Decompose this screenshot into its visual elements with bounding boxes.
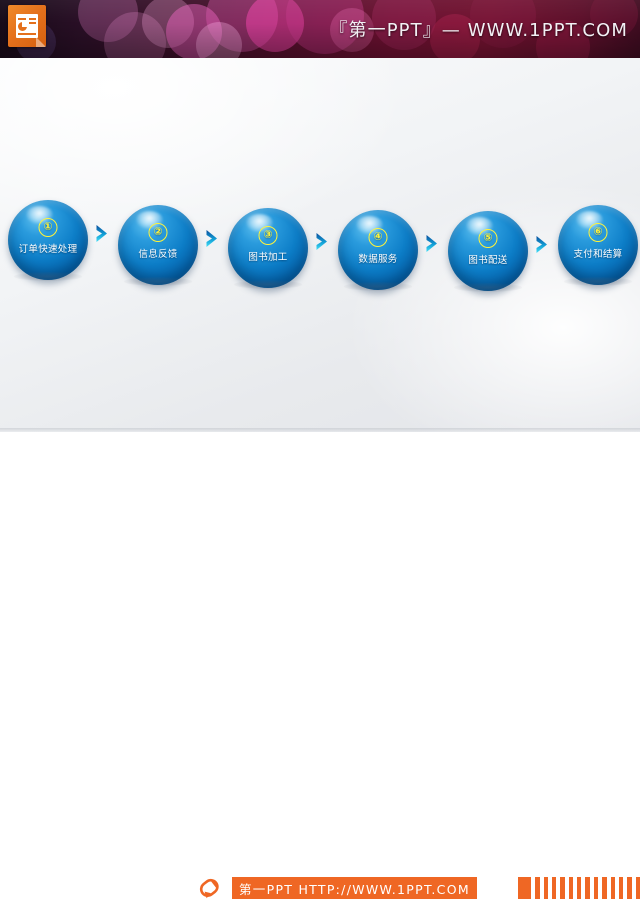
- footer-url-block[interactable]: 第一PPT HTTP://WWW.1PPT.COM: [232, 877, 477, 899]
- footer-stripe: [535, 877, 539, 899]
- footer-stripe: [560, 877, 564, 899]
- chevron-right-icon: [315, 232, 330, 251]
- footer-stripe: [602, 877, 606, 899]
- footer-url-text: 第一PPT HTTP://WWW.1PPT.COM: [239, 879, 470, 898]
- slide-body: ① 订单快速处理 ② 信息反馈: [0, 58, 640, 432]
- footer-stripe: [627, 877, 631, 899]
- node-label: 订单快速处理: [8, 241, 88, 255]
- header-banner: 『第一PPT』— WWW.1PPT.COM: [0, 0, 640, 58]
- footer-stripes: [518, 877, 640, 899]
- footer-stripe: [611, 877, 615, 899]
- node-shadow: [124, 277, 192, 286]
- footer-stripe: [569, 877, 573, 899]
- node-shadow: [14, 272, 82, 281]
- node-label: 信息反馈: [118, 246, 198, 260]
- node-shadow: [344, 282, 412, 291]
- node-sphere: [338, 210, 418, 290]
- node-sphere: [118, 205, 198, 285]
- node-label: 图书加工: [228, 249, 308, 263]
- footer-bar: 第一PPT HTTP://WWW.1PPT.COM: [0, 432, 640, 480]
- footer-stripe: [518, 877, 531, 899]
- process-node-3[interactable]: ③ 图书加工: [228, 208, 308, 288]
- chevron-right-icon: [425, 234, 440, 253]
- footer-stripe: [577, 877, 581, 899]
- chevron-right-icon: [205, 229, 220, 248]
- node-shadow: [564, 277, 632, 286]
- node-sphere: [228, 208, 308, 288]
- node-shadow: [234, 280, 302, 289]
- header-title: 『第一PPT』— WWW.1PPT.COM: [329, 16, 628, 42]
- node-label: 图书配送: [448, 252, 528, 266]
- chevron-right-icon: [535, 235, 550, 254]
- process-node-2[interactable]: ② 信息反馈: [118, 205, 198, 285]
- node-number-badge: ①: [39, 218, 58, 237]
- process-node-6[interactable]: ⑥ 支付和结算: [558, 205, 638, 285]
- process-node-5[interactable]: ⑤ 图书配送: [448, 211, 528, 291]
- chevron-right-icon: [95, 224, 110, 243]
- process-node-4[interactable]: ④ 数据服务: [338, 210, 418, 290]
- node-number-badge: ⑤: [479, 229, 498, 248]
- node-label: 支付和结算: [558, 246, 638, 260]
- process-flow-diagram: ① 订单快速处理 ② 信息反馈: [0, 58, 640, 432]
- pencil-icon: [194, 873, 226, 903]
- footer-stripe: [544, 877, 548, 899]
- footer-stripe: [594, 877, 598, 899]
- node-number-badge: ④: [369, 228, 388, 247]
- footer-stripe: [619, 877, 623, 899]
- node-label: 数据服务: [338, 251, 418, 265]
- node-shadow: [454, 283, 522, 292]
- node-number-badge: ⑥: [589, 223, 608, 242]
- footer-stripe: [585, 877, 589, 899]
- footer-stripe: [552, 877, 556, 899]
- process-node-1[interactable]: ① 订单快速处理: [8, 200, 88, 280]
- node-sphere: [448, 211, 528, 291]
- node-sphere: [8, 200, 88, 280]
- footer-stripe: [636, 877, 640, 899]
- node-number-badge: ③: [259, 226, 278, 245]
- node-number-badge: ②: [149, 223, 168, 242]
- node-sphere: [558, 205, 638, 285]
- powerpoint-document-icon: [8, 5, 50, 51]
